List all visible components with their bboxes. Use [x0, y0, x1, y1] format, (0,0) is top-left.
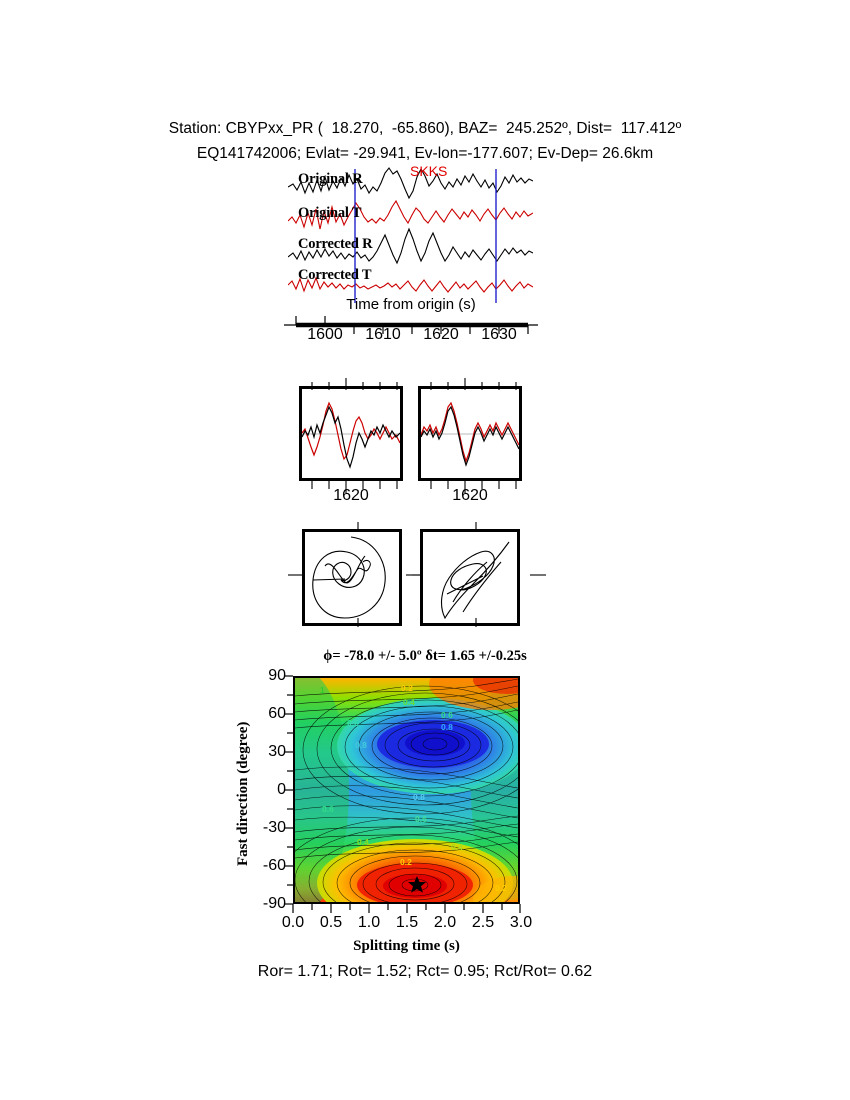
uncorrected-waveform-ticks-bottom [286, 481, 416, 493]
mini-trace-black-right [421, 407, 519, 465]
contour-label-06-center: 0.6 [415, 814, 427, 824]
trace-label-original-r: Original R [298, 171, 362, 188]
xtick-1-5: 1.5 [396, 914, 418, 932]
contour-x-axis-label: Splitting time (s) [293, 938, 520, 955]
ytick-60: 60 [268, 705, 286, 723]
ytick-neg30: -30 [263, 819, 286, 837]
contour-label-02-corner: 0.2 [495, 883, 507, 893]
contour-y-ticks [285, 672, 293, 908]
contour-label-04-top: 0.4 [403, 697, 415, 707]
contour-plot-title: ϕ= -78.0 +/- 5.0º δt= 1.65 +/-0.25s [0, 648, 850, 665]
quality-statistics: Ror= 1.71; Rot= 1.52; Rct= 0.95; Rct/Rot… [0, 963, 850, 981]
contour-label-08-center: 0.8 [413, 792, 425, 802]
contour-plot-frame: 1 0.2 0.4 0.6 0.8 0.6 0.8 0.8 0.6 0.6 0.… [293, 676, 520, 904]
uncorrected-waveform-ticks-top [286, 378, 416, 390]
contour-label-1: 1 [320, 685, 325, 695]
trace-label-corrected-r: Corrected R [298, 236, 372, 253]
waveform-stack-panel: Original R Original T Corrected R Correc… [288, 165, 533, 305]
contour-label-08-topright: 0.8 [441, 722, 453, 732]
uncorrected-waveform-traces [302, 389, 400, 478]
mini-trace-red-left [302, 403, 400, 459]
time-tick-1620: 1620 [423, 326, 459, 344]
xtick-0-0: 0.0 [282, 914, 304, 932]
ytick-neg60: -60 [263, 857, 286, 875]
time-tick-1600: 1600 [307, 326, 343, 344]
corrected-waveform-ticks-top [405, 378, 535, 390]
time-tick-1630: 1630 [481, 326, 517, 344]
corrected-particle-motion-ticks [406, 522, 546, 627]
figure-header: Station: CBYPxx_PR ( 18.270, -65.860), B… [0, 116, 850, 166]
ytick-30: 30 [268, 743, 286, 761]
contour-label-04-lowerleft: 0.4 [357, 837, 369, 847]
xtick-2-0: 2.0 [434, 914, 456, 932]
xtick-1-0: 1.0 [358, 914, 380, 932]
phase-label-skks: SKKS [410, 163, 447, 179]
corrected-waveform-traces [421, 389, 519, 478]
corrected-waveform-ticks-bottom [405, 481, 535, 493]
uncorrected-waveform-box [299, 386, 403, 481]
contour-label-06-topright: 0.6 [441, 710, 453, 720]
contour-y-axis-label: Fast direction (degree) [235, 722, 252, 866]
contour-surface: 1 0.2 0.4 0.6 0.8 0.6 0.8 0.8 0.6 0.6 0.… [295, 678, 518, 902]
xtick-0-5: 0.5 [320, 914, 342, 932]
ytick-90: 90 [268, 667, 286, 685]
contour-label-06-upperleft: 0.6 [347, 718, 359, 728]
xtick-2-5: 2.5 [472, 914, 494, 932]
ytick-neg90: -90 [263, 895, 286, 913]
contour-label-02-top: 0.2 [401, 683, 413, 693]
header-line-station: Station: CBYPxx_PR ( 18.270, -65.860), B… [0, 116, 850, 141]
contour-x-ticks [291, 904, 522, 913]
contour-label-02-lower: 0.2 [400, 857, 412, 867]
time-axis: Time from origin (s) 1600 1610 1620 1630 [280, 300, 542, 362]
trace-label-corrected-t: Corrected T [298, 267, 371, 284]
time-tick-1610: 1610 [365, 326, 401, 344]
xtick-3-0: 3.0 [510, 914, 532, 932]
splitting-contour-plot: 1 0.2 0.4 0.6 0.8 0.6 0.8 0.8 0.6 0.6 0.… [293, 676, 520, 904]
contour-label-08-upperleft: 0.8 [355, 740, 367, 750]
figure-page: Station: CBYPxx_PR ( 18.270, -65.860), B… [0, 0, 850, 1100]
contour-label-06-left: 0.6 [322, 804, 334, 814]
time-axis-title: Time from origin (s) [280, 296, 542, 313]
corrected-waveform-box [418, 386, 522, 481]
trace-label-original-t: Original T [298, 205, 361, 222]
contour-label-04-lowerright: 0.4 [451, 842, 463, 852]
